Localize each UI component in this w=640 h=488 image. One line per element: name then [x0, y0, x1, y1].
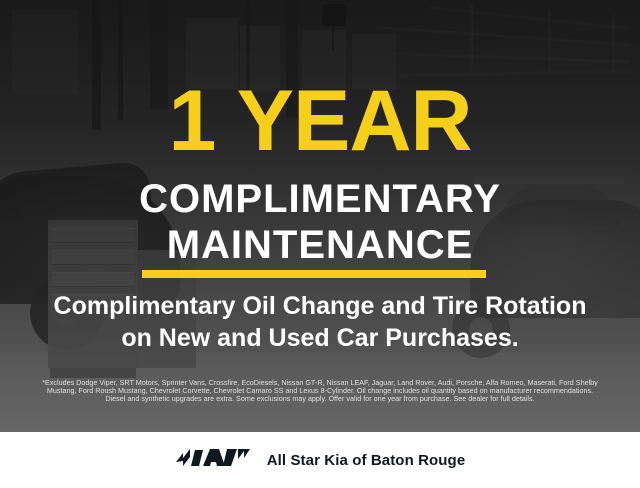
- offer-line-1: Complimentary Oil Change and Tire Rotati…: [0, 290, 640, 322]
- offer-line-2: on New and Used Car Purchases.: [0, 322, 640, 354]
- footer-bar: All Star Kia of Baton Rouge: [0, 432, 640, 488]
- headline-line-complimentary: COMPLIMENTARY: [0, 176, 640, 222]
- disclaimer-line-3: Diesel and synthetic upgrades are extra.…: [16, 395, 624, 403]
- kia-wordmark-logo-icon: [175, 447, 251, 474]
- dealer-name: All Star Kia of Baton Rouge: [267, 452, 466, 469]
- offer-description: Complimentary Oil Change and Tire Rotati…: [0, 290, 640, 354]
- promo-banner: 1 YEAR COMPLIMENTARY MAINTENANCE Complim…: [0, 0, 640, 488]
- hero-section: 1 YEAR COMPLIMENTARY MAINTENANCE Complim…: [0, 0, 640, 432]
- headline-line-maintenance: MAINTENANCE: [0, 222, 640, 268]
- banner-content: 1 YEAR COMPLIMENTARY MAINTENANCE Complim…: [0, 0, 640, 432]
- headline-subtitle: COMPLIMENTARY MAINTENANCE: [0, 176, 640, 268]
- yellow-divider-bar: [142, 270, 486, 278]
- disclaimer-text: *Excludes Dodge Viper, SRT Motors, Sprin…: [16, 379, 624, 404]
- headline-year: 1 YEAR: [0, 78, 640, 164]
